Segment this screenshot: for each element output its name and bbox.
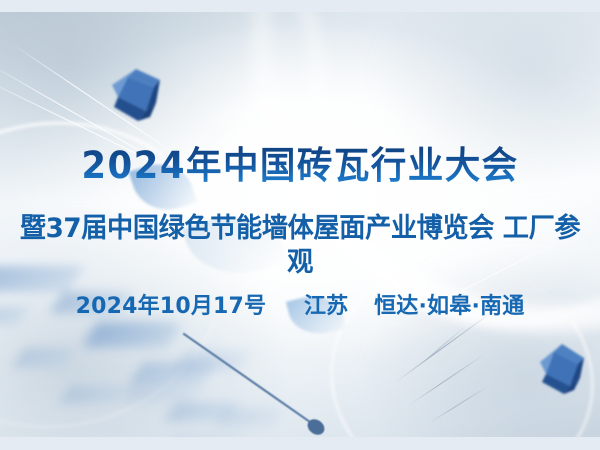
poster-title: 2024年中国砖瓦行业大会	[12, 144, 588, 188]
poster-dateline: 2024年10月17号 江苏 恒达·如皋·南通	[0, 292, 600, 322]
event-poster: 2024年中国砖瓦行业大会 暨37届中国绿色节能墙体屋面产业博览会 工厂参观 2…	[0, 0, 600, 450]
event-venue: 恒达·如皋·南通	[374, 294, 524, 319]
event-date: 2024年10月17号	[76, 294, 267, 319]
poster-subtitle: 暨37届中国绿色节能墙体屋面产业博览会 工厂参观	[9, 212, 591, 280]
poster-text-block: 2024年中国砖瓦行业大会 暨37届中国绿色节能墙体屋面产业博览会 工厂参观 2…	[0, 0, 600, 450]
letterbox-band-bottom	[0, 437, 600, 450]
event-region: 江苏	[304, 294, 348, 319]
letterbox-band-top	[0, 0, 600, 12]
